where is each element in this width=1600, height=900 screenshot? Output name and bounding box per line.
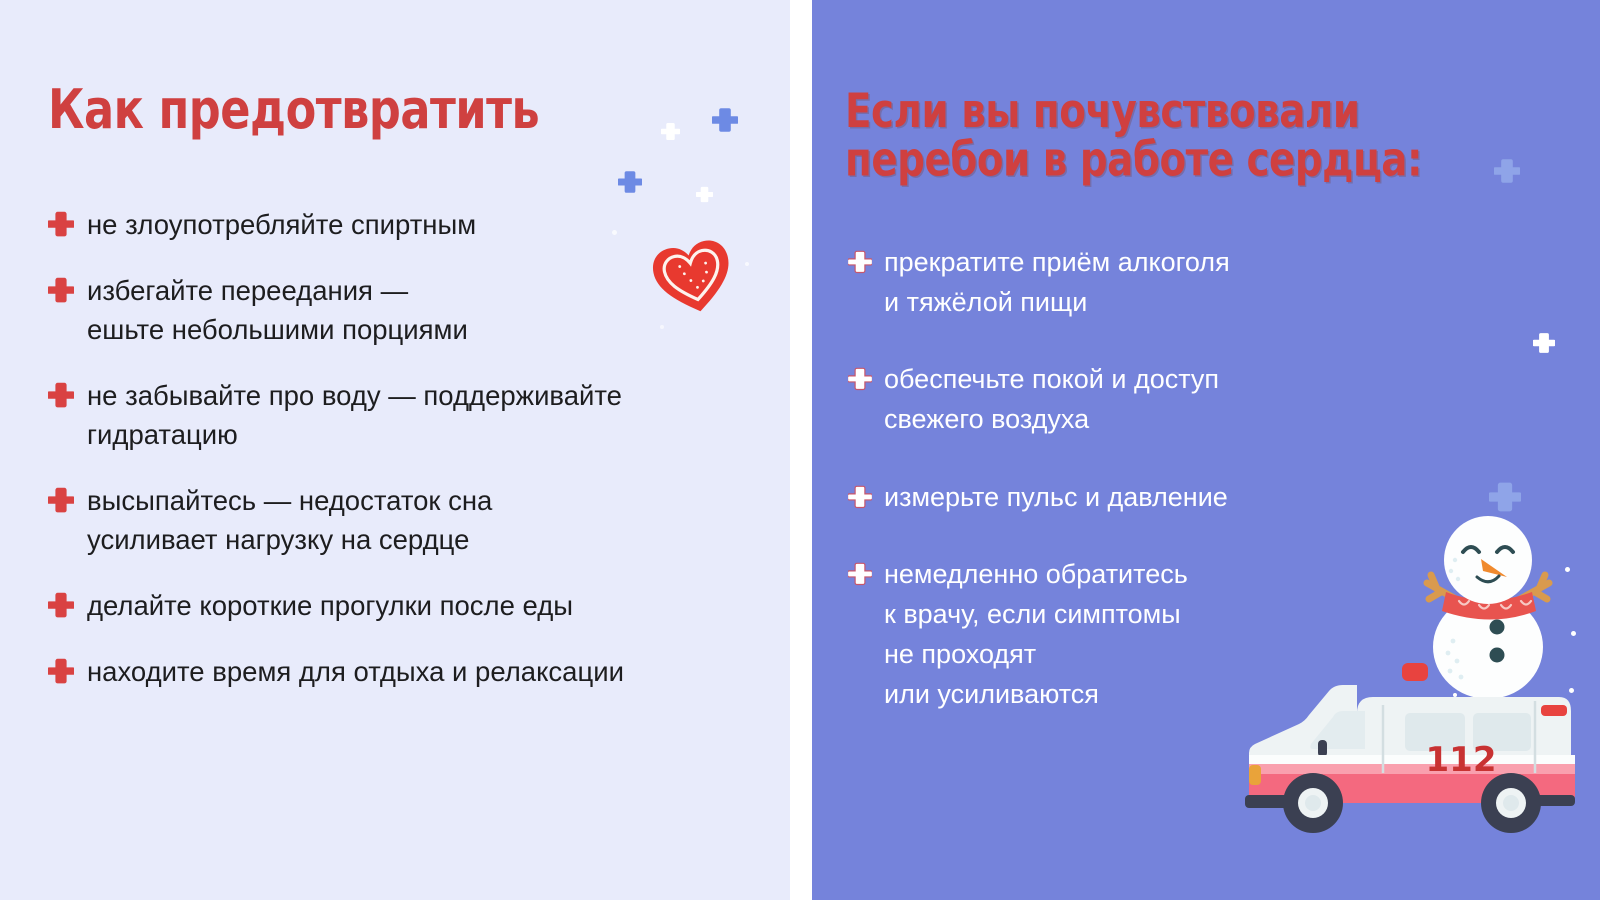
- decor-cross-blue-1: [712, 107, 738, 133]
- prevention-list: не злоупотребляйте спиртным избегайте пе…: [48, 205, 768, 718]
- list-item-text: измерьте пульс и давление: [884, 478, 1228, 518]
- red-cross-icon: [48, 658, 74, 684]
- ambulance-number: 112: [1426, 740, 1497, 780]
- list-item: избегайте переедания — ешьте небольшими …: [48, 271, 768, 349]
- left-panel-title: Как предотвратить: [48, 82, 539, 137]
- list-item-text: прекратите приём алкоголя и тяжёлой пищи: [884, 243, 1230, 322]
- list-item: не злоупотребляйте спиртным: [48, 205, 768, 244]
- decor-cross-white-3: [1533, 332, 1555, 354]
- ambulance-with-snowman-illustration: 112: [1205, 455, 1600, 855]
- list-item: делайте короткие прогулки после еды: [48, 586, 768, 625]
- red-cross-icon: [48, 211, 74, 237]
- red-cross-icon: [48, 592, 74, 618]
- list-item: прекратите приём алкоголя и тяжёлой пищи: [848, 243, 1448, 322]
- right-panel-title: Если вы почувствовали перебои в работе с…: [845, 88, 1422, 184]
- list-item: не забывайте про воду — поддерживайте ги…: [48, 376, 768, 454]
- list-item-text: высыпайтесь — недостаток сна усиливает н…: [87, 481, 492, 559]
- white-cross-icon: [848, 562, 872, 586]
- red-cross-icon: [48, 487, 74, 513]
- white-cross-icon: [848, 367, 872, 391]
- list-item-text: делайте короткие прогулки после еды: [87, 586, 573, 625]
- decor-cross-blue-2: [618, 170, 642, 194]
- decor-cross-light-blue-1: [1494, 158, 1520, 184]
- red-cross-icon: [48, 382, 74, 408]
- snowman-icon: [1427, 516, 1549, 699]
- left-panel: Как предотвратить: [0, 0, 790, 900]
- list-item: высыпайтесь — недостаток сна усиливает н…: [48, 481, 768, 559]
- list-item-text: избегайте переедания — ешьте небольшими …: [87, 271, 468, 349]
- list-item-text: не забывайте про воду — поддерживайте ги…: [87, 376, 622, 454]
- infographic-canvas: Как предотвратить: [0, 0, 1600, 900]
- red-cross-icon: [48, 277, 74, 303]
- list-item-text: немедленно обратитесь к врачу, если симп…: [884, 555, 1188, 714]
- list-item-text: не злоупотребляйте спиртным: [87, 205, 476, 244]
- list-item: обеспечьте покой и доступ свежего воздух…: [848, 360, 1448, 439]
- white-cross-icon: [848, 250, 872, 274]
- list-item-text: обеспечьте покой и доступ свежего воздух…: [884, 360, 1219, 439]
- decor-cross-white-1: [661, 122, 680, 141]
- list-item: находите время для отдыха и релаксации: [48, 652, 768, 691]
- list-item-text: находите время для отдыха и релаксации: [87, 652, 624, 691]
- ambulance-icon: 112: [1245, 663, 1575, 833]
- decor-cross-white-2: [696, 186, 713, 203]
- white-cross-icon: [848, 485, 872, 509]
